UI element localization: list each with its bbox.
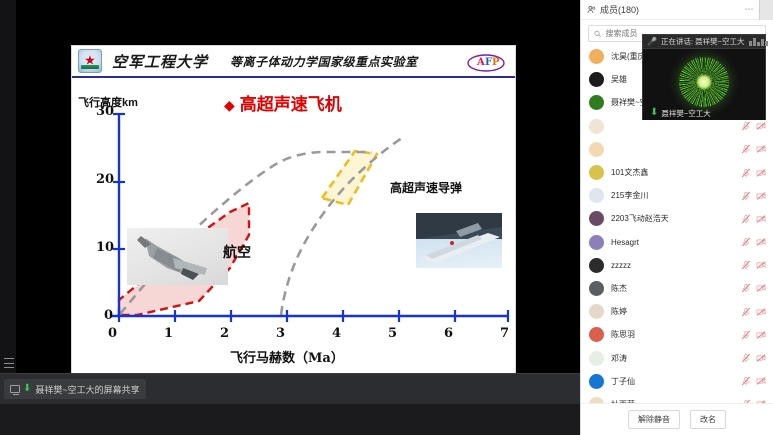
participants-count-title: 成员(180) [600, 3, 639, 16]
mic-off-icon[interactable] [741, 121, 751, 131]
mic-off-icon[interactable] [741, 144, 751, 154]
camera-off-icon[interactable] [756, 237, 766, 247]
mic-off-icon[interactable] [741, 353, 751, 363]
avatar [589, 72, 604, 87]
avatar [589, 188, 604, 203]
more-horizontal-icon[interactable]: ⋯ [744, 5, 753, 14]
video-name-bar: ⬇ 聂祥樊~空工大 [643, 106, 765, 120]
participant-row[interactable] [581, 138, 773, 161]
avatar [589, 397, 604, 403]
mic-off-icon[interactable] [741, 168, 751, 178]
camera-off-icon[interactable] [756, 191, 766, 201]
camera-off-icon[interactable] [756, 353, 766, 363]
participant-row[interactable]: 陈婷 [581, 300, 773, 323]
camera-off-icon[interactable] [756, 307, 766, 317]
participant-row[interactable]: Hesagrt [581, 231, 773, 254]
list-menu-icon[interactable] [4, 358, 14, 368]
camera-off-icon[interactable] [756, 260, 766, 270]
svg-text:A: A [476, 57, 485, 68]
lab-name: 等离子体动力学国家级重点实验室 [230, 53, 418, 70]
taskbar-item-label: 聂祥樊~空工大的屏幕共享 [35, 383, 139, 396]
app-window: ★ 空军工程大学 等离子体动力学国家级重点实验室 A F P ◆高超声速飞机 飞… [0, 0, 773, 435]
camera-off-icon[interactable] [756, 376, 766, 386]
camera-off-icon[interactable] [756, 214, 766, 224]
svg-text:P: P [492, 57, 500, 68]
participant-name: zzzzz [611, 261, 741, 270]
camera-off-icon[interactable] [756, 283, 766, 293]
mic-off-icon[interactable] [741, 330, 751, 340]
speaking-indicator-bar: 🎤 正在讲话: 聂祥樊~空工大 [643, 35, 765, 49]
camera-off-icon[interactable] [756, 399, 766, 403]
fighter-jet-photo [127, 228, 228, 285]
avatar [589, 304, 604, 319]
left-rail [0, 0, 16, 404]
avatar [589, 95, 604, 110]
participant-name: 陈婷 [611, 306, 741, 317]
avatar [589, 211, 604, 226]
region-hypersonic-missile [322, 151, 377, 205]
presentation-slide: ★ 空军工程大学 等离子体动力学国家级重点实验室 A F P ◆高超声速飞机 飞… [71, 45, 516, 375]
participant-name: 陈杰 [611, 283, 741, 294]
avatar [589, 119, 604, 134]
participant-name: Hesagrt [611, 238, 741, 247]
participant-row[interactable]: 2203飞动赵浩天 [581, 207, 773, 230]
video-stream[interactable]: ⬇ 聂祥樊~空工大 [643, 49, 765, 120]
participant-row[interactable]: 邓涛 [581, 346, 773, 369]
avatar [589, 258, 604, 273]
speaking-label: 正在讲话: 聂祥樊~空工大 [661, 36, 745, 47]
participants-footer: 解除静音 改名 [581, 403, 773, 435]
screen-share-viewport[interactable]: ★ 空军工程大学 等离子体动力学国家级重点实验室 A F P ◆高超声速飞机 飞… [0, 0, 580, 404]
mic-off-icon[interactable] [741, 399, 751, 403]
participant-status-icons [741, 283, 766, 293]
university-name: 空军工程大学 [112, 51, 208, 72]
mic-off-icon[interactable] [741, 307, 751, 317]
participant-row[interactable]: 丁子仙 [581, 370, 773, 393]
avatar [589, 351, 604, 366]
participant-status-icons [741, 144, 766, 154]
download-arrow-icon: ⬇ [23, 384, 31, 394]
participant-name: 邓涛 [611, 353, 741, 364]
participant-status-icons [741, 330, 766, 340]
participant-status-icons [741, 307, 766, 317]
avatar [589, 281, 604, 296]
avatar [589, 235, 604, 250]
video-participant-name: 聂祥樊~空工大 [661, 108, 710, 119]
taskbar-screen-share-item[interactable]: ⬇ 聂祥樊~空工大的屏幕共享 [4, 379, 146, 399]
participant-status-icons [741, 214, 766, 224]
rename-button[interactable]: 改名 [690, 410, 726, 429]
slide-header: ★ 空军工程大学 等离子体动力学国家级重点实验室 A F P [72, 46, 515, 78]
trajectory-lower-dashed [281, 138, 402, 315]
participant-row[interactable]: zzzzz [581, 254, 773, 277]
participant-name: 丁子仙 [611, 376, 741, 387]
participant-row[interactable]: 101文杰鑫 [581, 161, 773, 184]
unmute-button[interactable]: 解除静音 [628, 410, 680, 429]
camera-off-icon[interactable] [756, 330, 766, 340]
participant-status-icons [741, 260, 766, 270]
participants-panel-header: 成员(180) ⋯ ✕ [581, 0, 773, 20]
avatar [589, 49, 604, 64]
slide-body: ◆高超声速飞机 飞行高度km 飞行马赫数（Ma） 30 20 10 0 0 1 … [72, 78, 515, 374]
camera-off-icon[interactable] [756, 168, 766, 178]
taskbar: ⬇ 聂祥樊~空工大的屏幕共享 [0, 373, 580, 404]
participant-status-icons [741, 237, 766, 247]
avatar [589, 327, 604, 342]
mic-off-icon[interactable] [741, 283, 751, 293]
participant-name: 101文杰鑫 [611, 167, 741, 178]
military-emblem-icon: ★ [78, 49, 102, 73]
participant-row[interactable]: 杜雨菲 [581, 393, 773, 403]
region-label-aviation: 航空 [223, 242, 251, 262]
participant-row[interactable]: 陈思羽 [581, 323, 773, 346]
monitor-icon [10, 385, 20, 393]
camera-off-icon[interactable] [756, 144, 766, 154]
participant-status-icons [741, 121, 766, 131]
participant-status-icons [741, 168, 766, 178]
participant-status-icons [741, 353, 766, 363]
mic-off-icon[interactable] [741, 260, 751, 270]
hypersonic-missile-photo [416, 213, 502, 268]
participant-row[interactable]: 陈杰 [581, 277, 773, 300]
active-speaker-video-tile[interactable]: 🎤 正在讲话: 聂祥樊~空工大 ⬇ 聂祥樊~空工大 [642, 34, 766, 120]
audio-wave-icon [749, 38, 768, 46]
participant-status-icons [741, 376, 766, 386]
flight-envelope-chart: 飞行高度km 飞行马赫数（Ma） 30 20 10 0 0 1 2 3 4 5 … [72, 78, 517, 374]
screen-share-arrow-icon: ⬇ [650, 108, 658, 118]
avatar [589, 374, 604, 389]
maximize-icon[interactable] [759, 0, 773, 20]
search-icon [594, 30, 601, 38]
participant-name: 2203飞动赵浩天 [611, 213, 741, 224]
avatar [589, 165, 604, 180]
mic-off-icon[interactable] [741, 191, 751, 201]
mic-off-icon[interactable] [741, 376, 751, 386]
participant-name: 215李金川 [611, 190, 741, 201]
afp-logo-icon: A F P [465, 50, 507, 74]
people-icon [587, 5, 596, 14]
mic-off-icon[interactable] [741, 214, 751, 224]
participant-row[interactable]: 215李金川 [581, 184, 773, 207]
participant-name: 陈思羽 [611, 329, 741, 340]
region-label-hypersonic-missile: 高超声速导弹 [390, 179, 462, 196]
video-content-starburst [679, 57, 729, 107]
camera-off-icon[interactable] [756, 121, 766, 131]
avatar [589, 142, 604, 157]
mic-off-icon[interactable] [741, 237, 751, 247]
mic-muted-icon: 🎤 [647, 38, 657, 46]
participant-status-icons [741, 191, 766, 201]
